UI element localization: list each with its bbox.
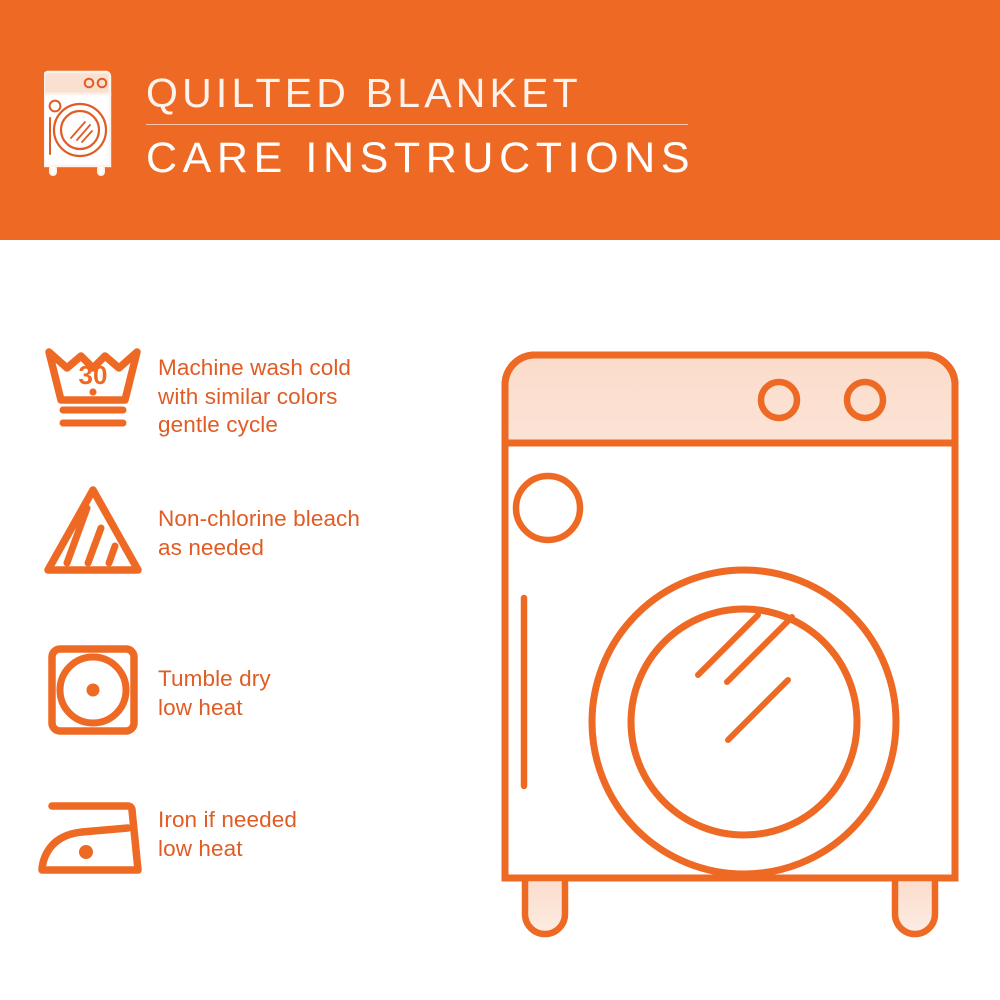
header-banner: QUILTED BLANKET CARE INSTRUCTIONS [0,0,1000,240]
washing-machine-icon [44,66,130,178]
tumble-dry-low-icon [28,635,158,745]
bleach-triangle-icon [28,475,158,585]
care-label: Iron if needed low heat [158,780,297,863]
care-row-tumble-dry: Tumble dry low heat [0,635,480,745]
wash-basin-30-icon: 30 [28,330,158,440]
care-label: Tumble dry low heat [158,635,271,722]
title-divider [146,124,688,125]
wash-temperature-label: 30 [79,360,108,390]
care-label-line: Iron if needed [158,806,297,835]
care-label: Non-chlorine bleach as needed [158,475,360,562]
care-row-machine-wash: 30 Machine wash cold with similar colors… [0,330,480,440]
care-instructions-poster: QUILTED BLANKET CARE INSTRUCTIONS 30 Mac… [0,0,1000,1000]
care-label-line: Non-chlorine bleach [158,505,360,534]
header-title-block: QUILTED BLANKET CARE INSTRUCTIONS [146,68,786,183]
washer-foot [895,878,935,934]
care-label-line: gentle cycle [158,411,351,440]
care-label-line: as needed [158,534,360,563]
washer-foot [525,878,565,934]
page-title: QUILTED BLANKET [146,68,786,118]
care-label-line: low heat [158,835,297,864]
care-label-line: Machine wash cold [158,354,351,383]
iron-low-icon [28,780,158,890]
care-label-line: Tumble dry [158,665,271,694]
care-label: Machine wash cold with similar colors ge… [158,330,351,440]
front-load-washing-machine-illustration [480,330,980,950]
page-subtitle: CARE INSTRUCTIONS [146,133,786,183]
care-row-iron: Iron if needed low heat [0,780,480,890]
care-row-bleach: Non-chlorine bleach as needed [0,475,480,585]
care-label-line: with similar colors [158,383,351,412]
care-label-line: low heat [158,694,271,723]
